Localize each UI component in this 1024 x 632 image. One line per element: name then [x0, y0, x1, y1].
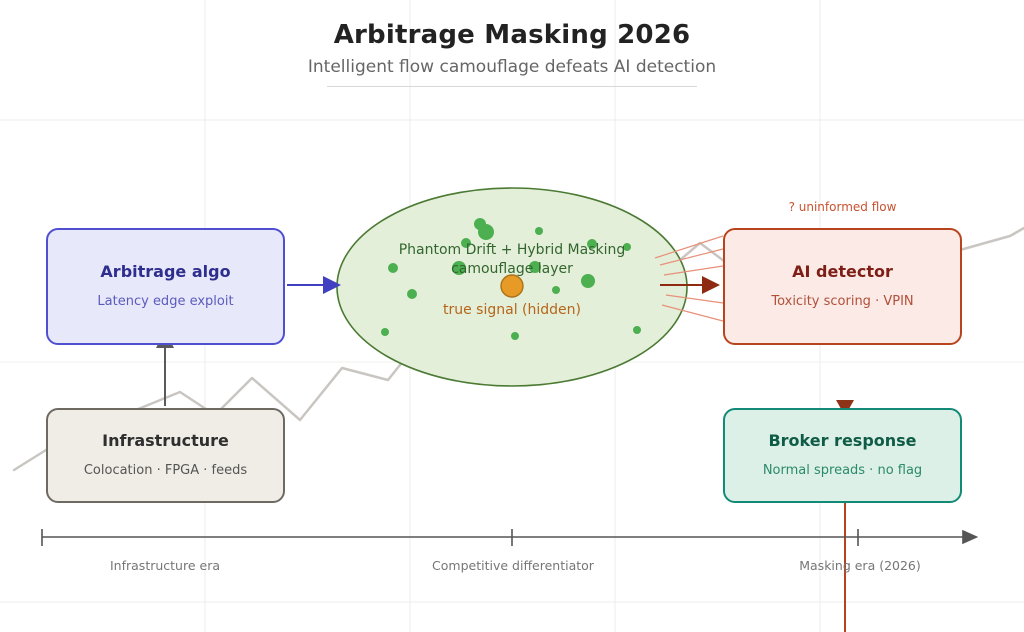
node-infrastructure[interactable]: Infrastructure Colocation · FPGA · feeds — [46, 408, 285, 503]
timeline-era-label: Competitive differentiator — [383, 558, 643, 574]
title-divider — [327, 86, 697, 87]
page-subtitle: Intelligent flow camouflage defeats AI d… — [0, 54, 1024, 80]
node-ai-detector[interactable]: AI detector Toxicity scoring · VPIN — [723, 228, 962, 345]
camouflage-sublabel: camouflage layer — [312, 260, 712, 278]
node-subtitle: Latency edge exploit — [97, 293, 233, 311]
node-subtitle: Colocation · FPGA · feeds — [84, 462, 247, 480]
header: Arbitrage Masking 2026 Intelligent flow … — [0, 20, 1024, 87]
uninformed-flow-annotation: ? uninformed flow — [723, 199, 962, 215]
page-title: Arbitrage Masking 2026 — [0, 20, 1024, 50]
node-broker-response[interactable]: Broker response Normal spreads · no flag — [723, 408, 962, 503]
node-title: Infrastructure — [102, 431, 229, 451]
node-arbitrage-algo[interactable]: Arbitrage algo Latency edge exploit — [46, 228, 285, 345]
camouflage-headline-label: Phantom Drift + Hybrid Masking — [312, 241, 712, 259]
timeline-era-label: Masking era (2026) — [730, 558, 990, 574]
diagram-canvas: Arbitrage Masking 2026 Intelligent flow … — [0, 0, 1024, 632]
node-title: Arbitrage algo — [100, 262, 230, 282]
node-title: AI detector — [792, 262, 893, 282]
true-signal-label: true signal (hidden) — [312, 301, 712, 319]
timeline-era-label: Infrastructure era — [35, 558, 295, 574]
node-subtitle: Normal spreads · no flag — [763, 462, 922, 480]
node-title: Broker response — [768, 431, 916, 451]
node-subtitle: Toxicity scoring · VPIN — [771, 293, 913, 311]
